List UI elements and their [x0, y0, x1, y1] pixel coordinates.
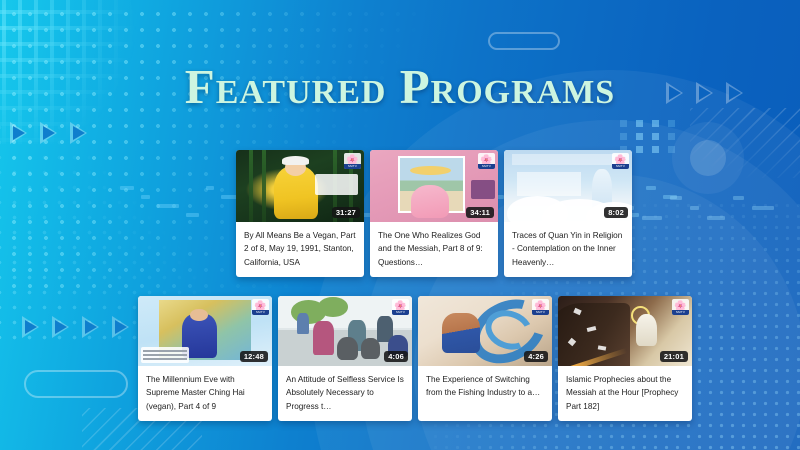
program-card[interactable]: 🌸SMTV 12:48 The Millennium Eve with Supr…	[138, 296, 272, 421]
program-card[interactable]: 🌸SMTV 4:26 The Experience of Switching f…	[418, 296, 552, 421]
program-title: The Experience of Switching from the Fis…	[418, 366, 552, 416]
equalizer-bar	[186, 213, 199, 217]
rounded-pill-outline-top	[488, 32, 560, 50]
equalizer-bar	[120, 186, 134, 190]
channel-logo-icon: 🌸SMTV	[612, 153, 629, 169]
equalizer-bar	[141, 195, 150, 199]
program-thumbnail[interactable]: 🌸SMTV 8:02	[504, 150, 632, 222]
program-thumbnail[interactable]: 🌸SMTV 4:06	[278, 296, 412, 366]
program-title: An Attitude of Selfless Service Is Absol…	[278, 366, 412, 421]
featured-row-1: 🌸SMTV 31:27 By All Means Be a Vegan, Par…	[236, 150, 632, 277]
equalizer-bar	[157, 204, 179, 208]
play-triangle-row-top-left	[10, 122, 87, 144]
program-title: By All Means Be a Vegan, Part 2 of 8, Ma…	[236, 222, 364, 277]
duration-badge: 4:26	[524, 351, 548, 363]
program-title: Islamic Prophecies about the Messiah at …	[558, 366, 692, 421]
program-card[interactable]: 🌸SMTV 8:02 Traces of Quan Yin in Religio…	[504, 150, 632, 277]
page-title: Featured Programs	[0, 62, 800, 111]
play-triangle-icon	[52, 316, 69, 338]
channel-logo-icon: 🌸SMTV	[532, 299, 549, 315]
play-triangle-icon	[70, 122, 87, 144]
play-triangle-icon	[22, 316, 39, 338]
duration-badge: 12:48	[240, 351, 268, 363]
thumbnail-caption-chip	[141, 347, 189, 363]
channel-logo-icon: 🌸SMTV	[392, 299, 409, 315]
play-triangle-icon	[82, 316, 99, 338]
program-title: The One Who Realizes God and the Messiah…	[370, 222, 498, 277]
duration-badge: 31:27	[332, 207, 360, 219]
channel-logo-icon: 🌸SMTV	[344, 153, 361, 169]
duration-badge: 34:11	[466, 207, 494, 219]
channel-logo-icon: 🌸SMTV	[672, 299, 689, 315]
play-triangle-icon	[10, 122, 27, 144]
channel-logo-icon: 🌸SMTV	[252, 299, 269, 315]
duration-badge: 4:06	[384, 351, 408, 363]
program-card[interactable]: 🌸SMTV 21:01 Islamic Prophecies about the…	[558, 296, 692, 421]
program-thumbnail[interactable]: 🌸SMTV 4:26	[418, 296, 552, 366]
rounded-pill-outline-bottom	[24, 370, 128, 398]
equalizer-bar	[206, 186, 214, 190]
program-card[interactable]: 🌸SMTV 34:11 The One Who Realizes God and…	[370, 150, 498, 277]
program-thumbnail[interactable]: 🌸SMTV 21:01	[558, 296, 692, 366]
slide-canvas: Featured Programs 🌸SMTV 31:27 By All Mea…	[0, 0, 800, 450]
play-triangle-icon	[112, 316, 129, 338]
program-thumbnail[interactable]: 🌸SMTV 31:27	[236, 150, 364, 222]
play-triangle-icon	[40, 122, 57, 144]
duration-badge: 21:01	[660, 351, 688, 363]
program-title: The Millennium Eve with Supreme Master C…	[138, 366, 272, 421]
program-card[interactable]: 🌸SMTV 31:27 By All Means Be a Vegan, Par…	[236, 150, 364, 277]
program-title: Traces of Quan Yin in Religion - Contemp…	[504, 222, 632, 277]
channel-logo-icon: 🌸SMTV	[478, 153, 495, 169]
duration-badge: 8:02	[604, 207, 628, 219]
featured-row-2: 🌸SMTV 12:48 The Millennium Eve with Supr…	[138, 296, 692, 421]
program-card[interactable]: 🌸SMTV 4:06 An Attitude of Selfless Servi…	[278, 296, 412, 421]
program-thumbnail[interactable]: 🌸SMTV 34:11	[370, 150, 498, 222]
program-thumbnail[interactable]: 🌸SMTV 12:48	[138, 296, 272, 366]
